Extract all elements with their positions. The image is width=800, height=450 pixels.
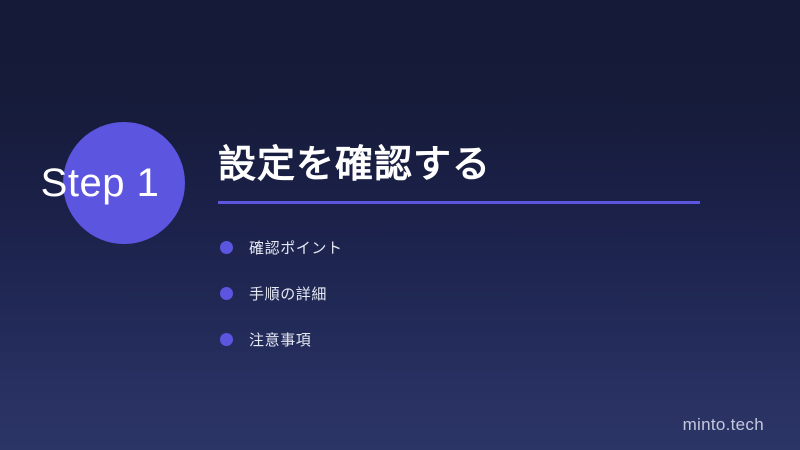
list-item: 手順の詳細	[220, 278, 343, 308]
list-item: 注意事項	[220, 324, 343, 354]
step-label: Step 1	[0, 122, 200, 244]
step-badge: Step 1	[0, 110, 210, 260]
bullet-list: 確認ポイント 手順の詳細 注意事項	[220, 232, 343, 354]
bullet-label: 手順の詳細	[249, 283, 327, 304]
slide-canvas: Step 1 設定を確認する 確認ポイント 手順の詳細 注意事項 minto.t…	[0, 0, 800, 450]
bullet-label: 注意事項	[249, 329, 311, 350]
title-block: 設定を確認する	[218, 142, 748, 204]
bullet-dot-icon	[220, 241, 233, 254]
list-item: 確認ポイント	[220, 232, 343, 262]
bullet-dot-icon	[220, 287, 233, 300]
bullet-label: 確認ポイント	[249, 237, 343, 258]
bullet-dot-icon	[220, 333, 233, 346]
slide-title: 設定を確認する	[218, 142, 748, 188]
title-divider	[218, 201, 700, 204]
watermark: minto.tech	[683, 415, 764, 435]
